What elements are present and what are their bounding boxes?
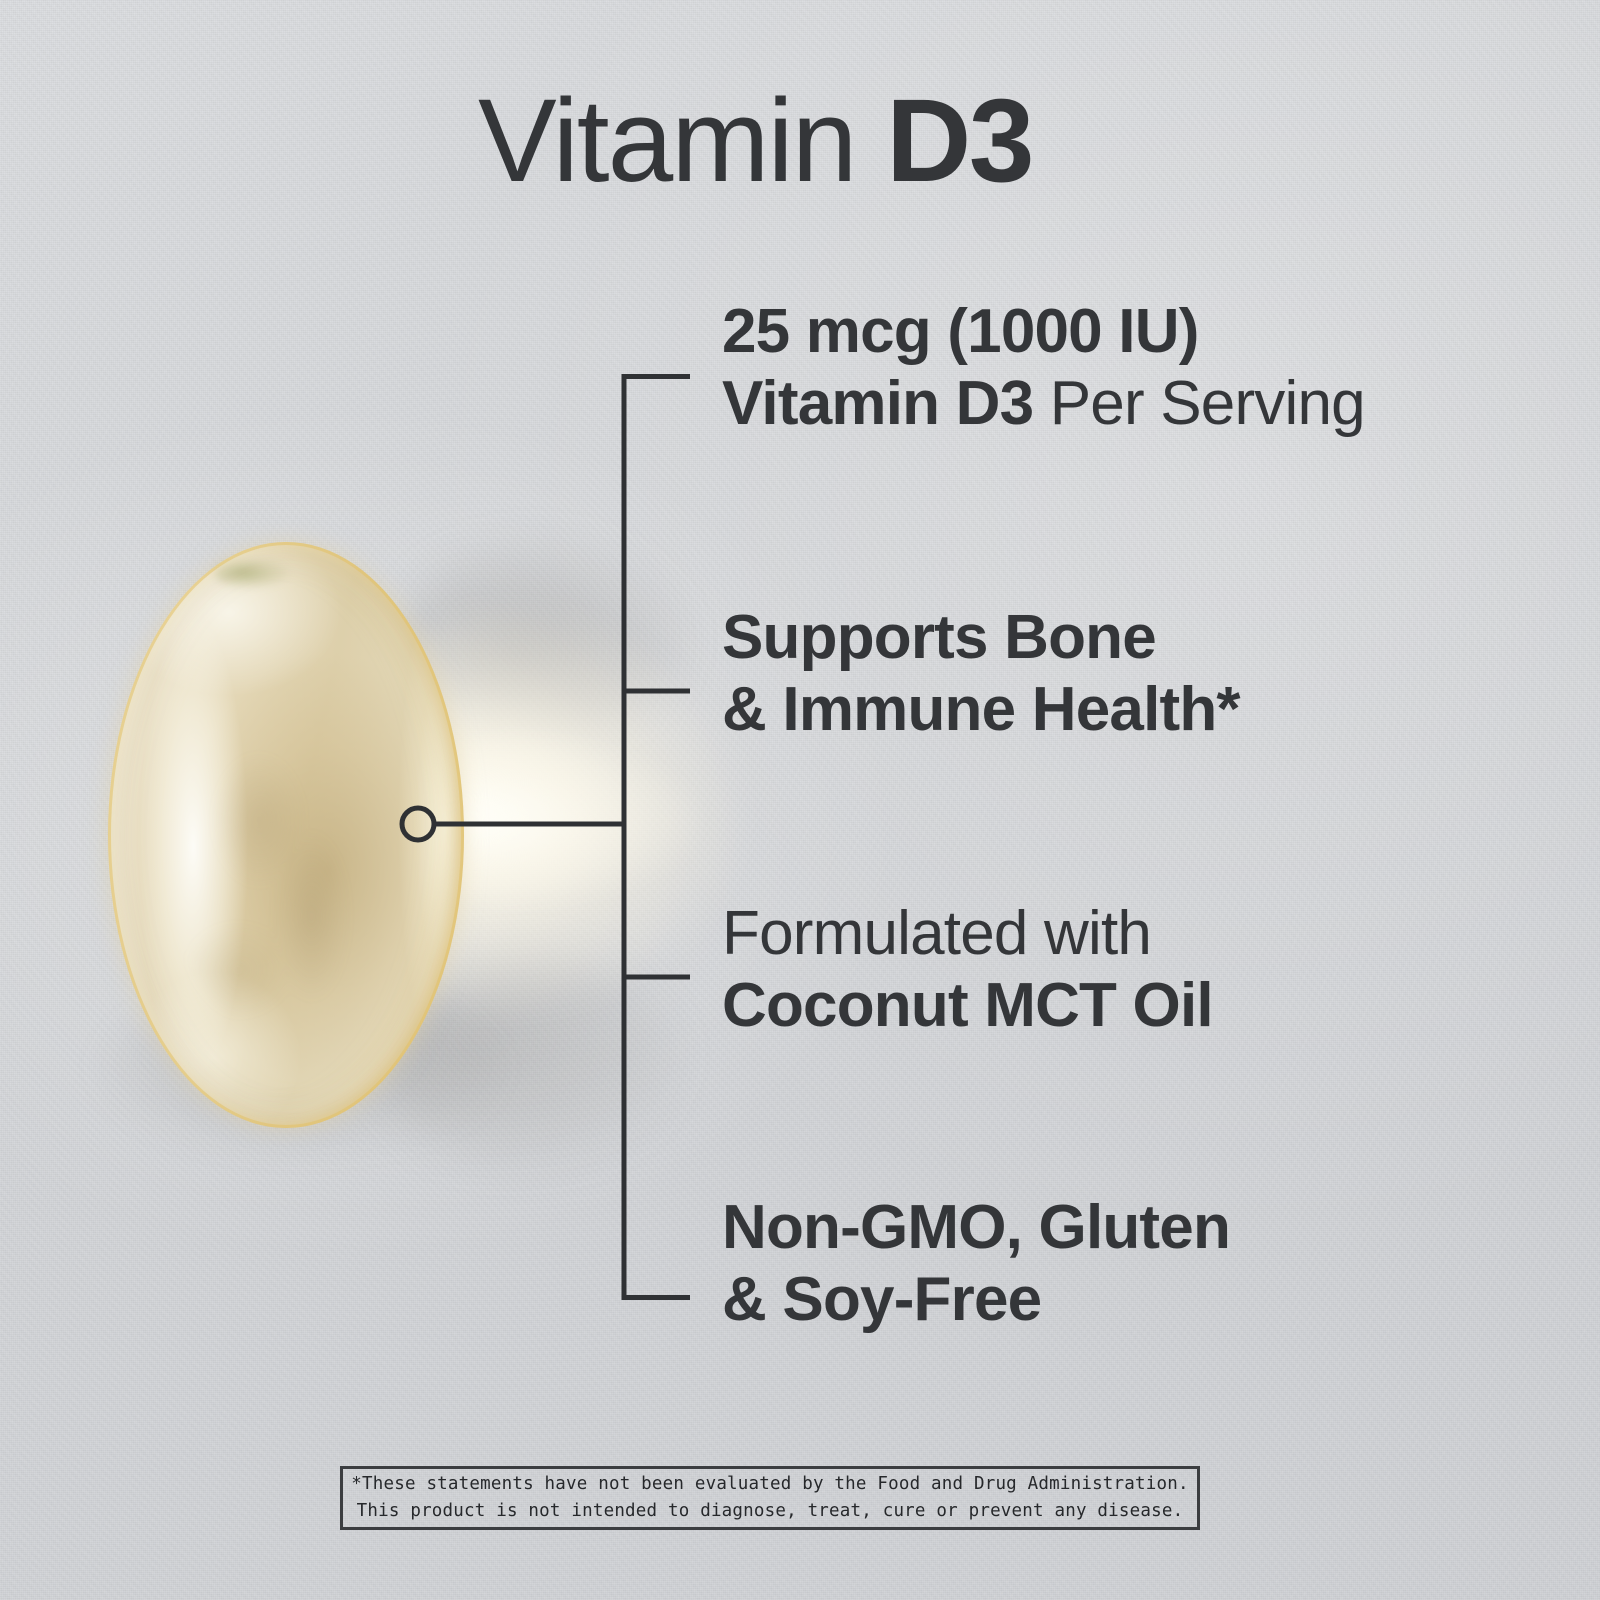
softgel-capsule-image <box>0 430 700 1210</box>
fda-disclaimer-text: *These statements have not been evaluate… <box>351 1471 1188 1525</box>
feature-benefits-line1-text: Supports Bone <box>722 603 1156 672</box>
feature-benefits-line1: Supports Bone <box>722 602 1240 674</box>
feature-dosage-line2-regular: Per Serving <box>1033 369 1365 438</box>
feature-dosage-line2: Vitamin D3 Per Serving <box>722 368 1365 440</box>
feature-benefits-line2: & Immune Health* <box>722 674 1240 746</box>
page-title: Vitamin D3 <box>478 82 1032 200</box>
feature-formulation-line1-text: Formulated with <box>722 899 1151 968</box>
feature-formulation-line1: Formulated with <box>722 898 1213 970</box>
feature-formulation-line2-text: Coconut MCT Oil <box>722 971 1213 1040</box>
feature-formulation-line2: Coconut MCT Oil <box>722 970 1213 1042</box>
feature-formulation: Formulated with Coconut MCT Oil <box>722 898 1213 1042</box>
feature-dosage-line1-text: 25 mcg (1000 IU) <box>722 297 1199 366</box>
page-title-accent: D3 <box>886 75 1032 207</box>
page-title-main: Vitamin <box>478 75 886 207</box>
fda-disclaimer-box: *These statements have not been evaluate… <box>340 1466 1200 1530</box>
feature-dosage-line1: 25 mcg (1000 IU) <box>722 296 1365 368</box>
feature-benefits: Supports Bone & Immune Health* <box>722 602 1240 746</box>
feature-free-from-line2-text: & Soy-Free <box>722 1265 1041 1334</box>
feature-dosage: 25 mcg (1000 IU) Vitamin D3 Per Serving <box>722 296 1365 440</box>
feature-dosage-line2-bold: Vitamin D3 <box>722 369 1033 438</box>
feature-benefits-line2-text: & Immune Health* <box>722 675 1240 744</box>
feature-free-from: Non-GMO, Gluten & Soy-Free <box>722 1192 1230 1336</box>
feature-free-from-line2: & Soy-Free <box>722 1264 1230 1336</box>
feature-free-from-line1: Non-GMO, Gluten <box>722 1192 1230 1264</box>
softgel-rim-highlight <box>108 542 464 1128</box>
product-infographic: Vitamin D3 25 mcg (1000 IU) Vitamin D3 P… <box>0 0 1600 1600</box>
feature-free-from-line1-text: Non-GMO, Gluten <box>722 1193 1230 1262</box>
